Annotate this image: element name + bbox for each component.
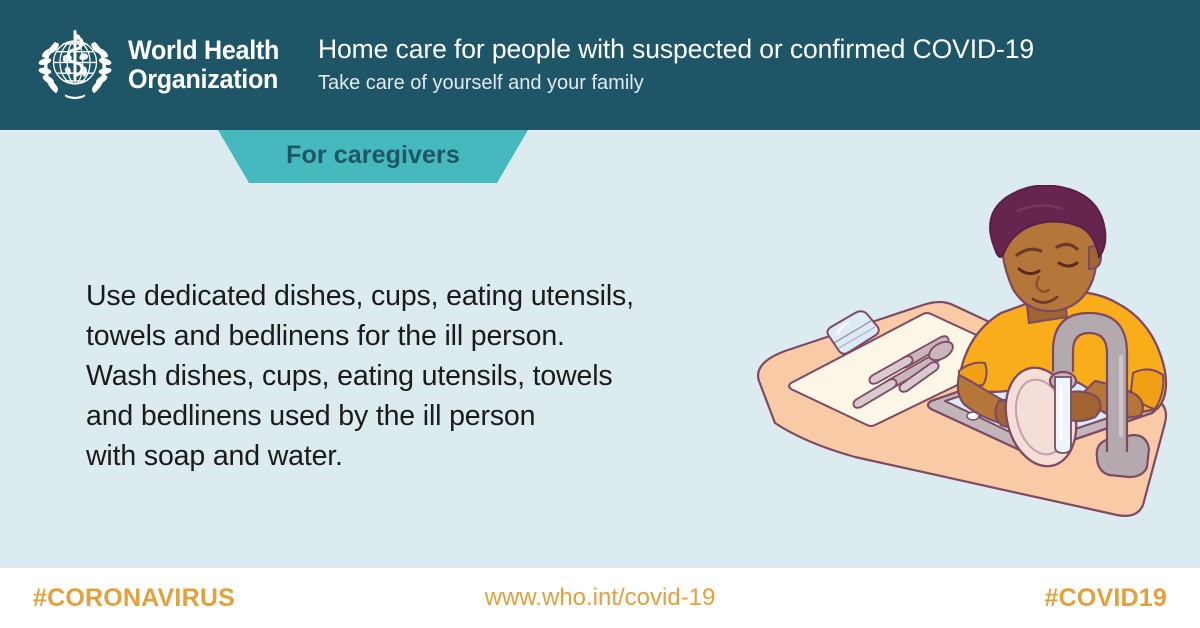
poster-title: Home care for people with suspected or c…: [318, 34, 1034, 65]
poster-subtitle: Take care of yourself and your family: [318, 70, 1034, 96]
who-logo: World Health Organization: [32, 22, 294, 108]
advice-body-text: Use dedicated dishes, cups, eating utens…: [86, 276, 766, 476]
audience-tab: For caregivers: [218, 130, 528, 183]
dishwashing-illustration: [745, 185, 1200, 535]
footer-hashtag-covid19: #COVID19: [1045, 584, 1168, 613]
running-water: [1055, 377, 1071, 453]
footer-url[interactable]: www.who.int/covid-19: [0, 584, 1200, 612]
who-logo-line-2: Organization: [128, 65, 279, 94]
header-text-block: Home care for people with suspected or c…: [318, 34, 1034, 95]
who-emblem-icon: [32, 22, 118, 108]
who-infographic-poster: World Health Organization Home care for …: [0, 0, 1200, 628]
who-logo-wordmark: World Health Organization: [128, 36, 279, 93]
footer-bar: #CORONAVIRUS www.who.int/covid-19 #COVID…: [0, 568, 1200, 628]
header-bar: World Health Organization Home care for …: [0, 0, 1200, 130]
audience-tab-label: For caregivers: [286, 141, 460, 170]
who-logo-line-1: World Health: [128, 36, 279, 65]
